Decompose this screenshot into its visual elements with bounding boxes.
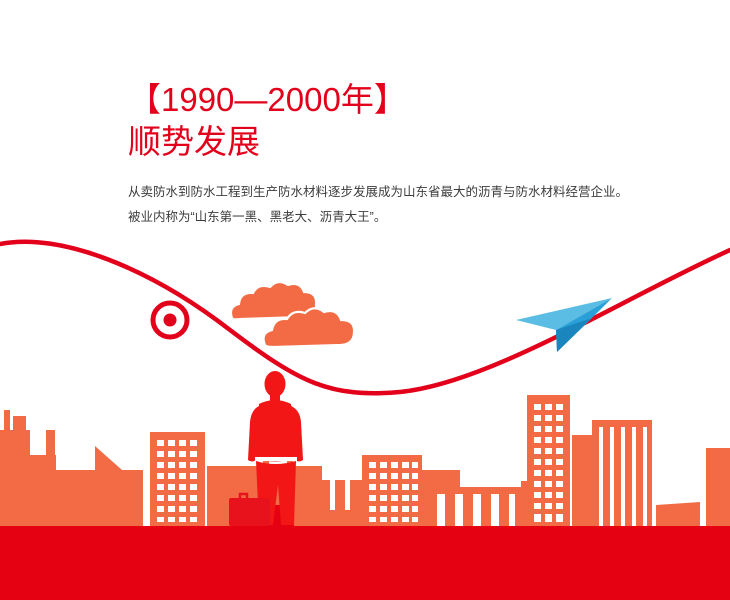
bottom-red-band	[0, 526, 730, 600]
slit-4	[491, 494, 499, 526]
gap-column-1	[143, 470, 150, 526]
building-flat-roof-right	[656, 502, 700, 526]
building-left-slab	[0, 430, 30, 526]
briefcase-body	[229, 498, 270, 526]
stripe-1	[599, 427, 603, 526]
building-left-cap	[13, 416, 26, 434]
briefcase	[229, 494, 270, 526]
text-block: 【1990—2000年】 顺势发展 从卖防水到防水工程到生产防水材料逐步发展成为…	[128, 80, 708, 230]
description-paragraph: 从卖防水到防水工程到生产防水材料逐步发展成为山东省最大的沥青与防水材料经营企业。…	[128, 180, 708, 230]
gap-column-2	[205, 466, 207, 526]
stripe-4	[632, 427, 636, 526]
pillar-gap-2	[345, 480, 350, 510]
antenna-1	[4, 410, 10, 434]
person-torso	[255, 400, 295, 462]
pillar-gap-1	[330, 480, 335, 510]
slit-5	[509, 494, 515, 526]
page-title-line-2: 顺势发展	[128, 122, 708, 162]
building-far-right	[706, 448, 730, 526]
stripe-2	[610, 427, 614, 526]
target-center-dot-icon	[164, 314, 177, 327]
stripe-5	[643, 427, 647, 526]
person-neck	[270, 394, 280, 401]
person-belt	[255, 457, 297, 461]
description-line-1: 从卖防水到防水工程到生产防水材料逐步发展成为山东省最大的沥青与防水材料经营企业。	[128, 180, 708, 205]
building-left-mid	[55, 470, 100, 526]
building-left-roof	[33, 455, 56, 470]
slit-2	[455, 494, 463, 526]
stripe-3	[621, 427, 625, 526]
timeline-banner: 【1990—2000年】 顺势发展 从卖防水到防水工程到生产防水材料逐步发展成为…	[0, 0, 730, 600]
description-line-2: 被业内称为“山东第一黑、黑老大、沥青大王”。	[128, 205, 708, 230]
person-head	[265, 371, 286, 397]
page-title-line-1: 【1990—2000年】	[128, 80, 708, 120]
slit-1	[437, 494, 445, 526]
building-left-fill	[122, 470, 143, 526]
slit-3	[473, 494, 481, 526]
